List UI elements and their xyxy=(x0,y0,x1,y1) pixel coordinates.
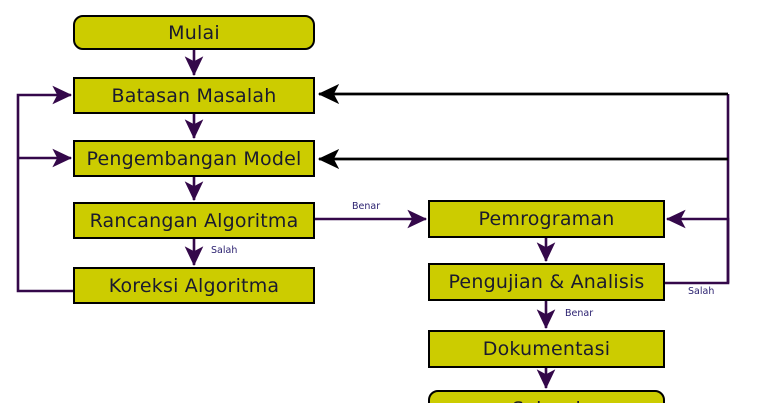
edge-label-benar-dokumentasi: Benar xyxy=(565,308,593,319)
node-selesai[interactable]: Selesai xyxy=(428,390,665,403)
node-koreksi-algoritma[interactable]: Koreksi Algoritma xyxy=(73,267,315,304)
edge-label-benar-pemrograman: Benar xyxy=(352,201,380,212)
edge-label-salah-rancangan: Salah xyxy=(211,245,237,256)
node-selesai-label: Selesai xyxy=(512,398,581,403)
node-pemrograman[interactable]: Pemrograman xyxy=(428,200,665,238)
node-pengembangan-model-label: Pengembangan Model xyxy=(87,148,302,170)
node-mulai[interactable]: Mulai xyxy=(73,15,315,50)
node-mulai-label: Mulai xyxy=(168,22,220,44)
node-batasan-masalah[interactable]: Batasan Masalah xyxy=(73,77,315,114)
node-koreksi-algoritma-label: Koreksi Algoritma xyxy=(109,275,280,297)
node-dokumentasi-label: Dokumentasi xyxy=(483,338,610,360)
node-pengujian-analisis-label: Pengujian & Analisis xyxy=(448,271,644,293)
node-pengembangan-model[interactable]: Pengembangan Model xyxy=(73,140,315,177)
node-pengujian-analisis[interactable]: Pengujian & Analisis xyxy=(428,263,665,301)
node-dokumentasi[interactable]: Dokumentasi xyxy=(428,330,665,368)
edge-koreksi-to-batasan xyxy=(18,95,73,291)
flowchart-canvas: Mulai Batasan Masalah Pengembangan Model… xyxy=(0,0,767,403)
edge-pengujian-to-pemrograman xyxy=(665,219,728,283)
node-rancangan-algoritma[interactable]: Rancangan Algoritma xyxy=(73,202,315,239)
edge-label-salah-pengujian: Salah xyxy=(688,286,714,297)
node-batasan-masalah-label: Batasan Masalah xyxy=(112,85,277,107)
node-rancangan-algoritma-label: Rancangan Algoritma xyxy=(90,210,299,232)
node-pemrograman-label: Pemrograman xyxy=(479,208,615,230)
